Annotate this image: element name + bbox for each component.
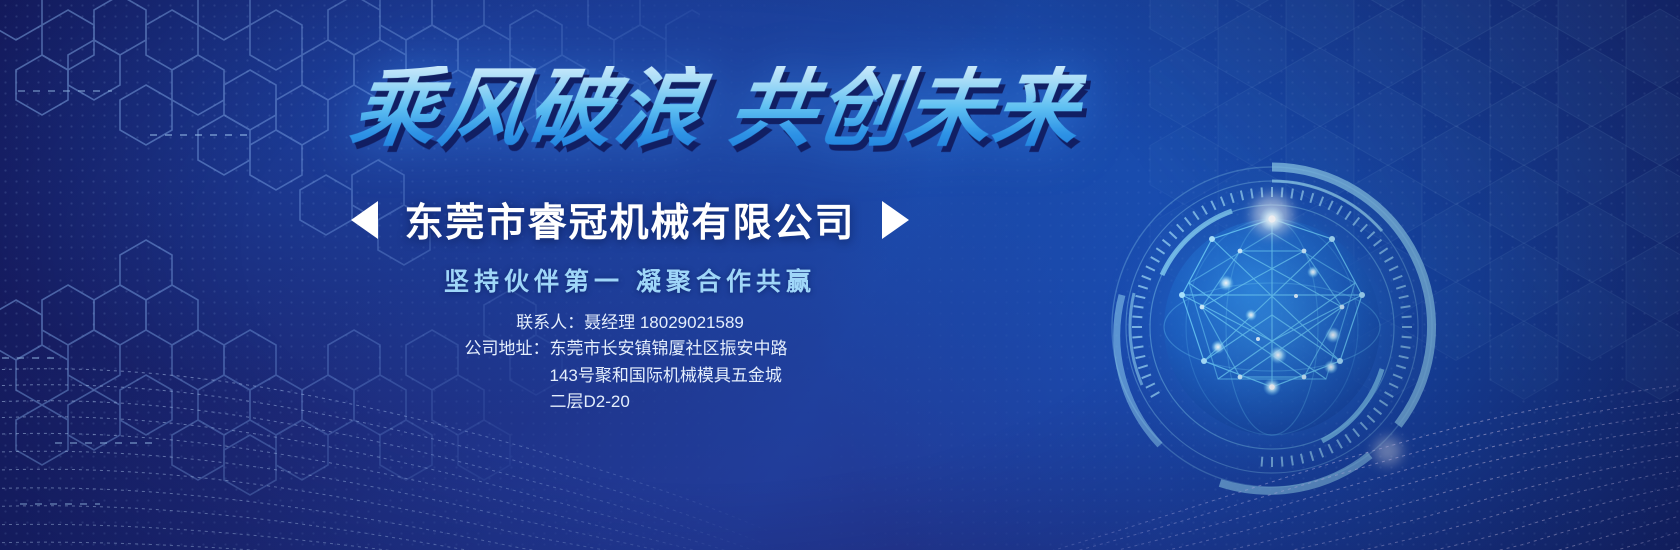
contact-person-label: 联系人： [516,310,584,336]
contact-address-value: 东莞市长安镇锦厦社区振安中路143号聚和国际机械模具五金城二层D2-20 [550,336,796,415]
contact-person-row: 联系人： 聂经理 18029021589 [516,310,744,336]
company-name-row: 东莞市睿冠机械有限公司 [0,192,1680,248]
contact-block: 联系人： 聂经理 18029021589 公司地址： 东莞市长安镇锦厦社区振安中… [0,310,1680,415]
page-title: 乘风破浪 共创未来 [346,66,1088,152]
left-arrow-icon [351,201,378,239]
headline-block: 乘风破浪 共创未来 [352,66,1082,152]
contact-address-label: 公司地址： [465,336,550,362]
right-arrow-icon [882,201,909,239]
contact-address-row: 公司地址： 东莞市长安镇锦厦社区振安中路143号聚和国际机械模具五金城二层D2-… [465,336,796,415]
promotional-banner: 乘风破浪 共创未来 东莞市睿冠机械有限公司 坚持伙伴第一 凝聚合作共赢 联系人：… [0,0,1680,550]
company-name: 东莞市睿冠机械有限公司 [404,192,855,248]
slogan-text: 坚持伙伴第一 凝聚合作共赢 [0,262,1680,298]
contact-person-value: 聂经理 18029021589 [584,310,744,336]
